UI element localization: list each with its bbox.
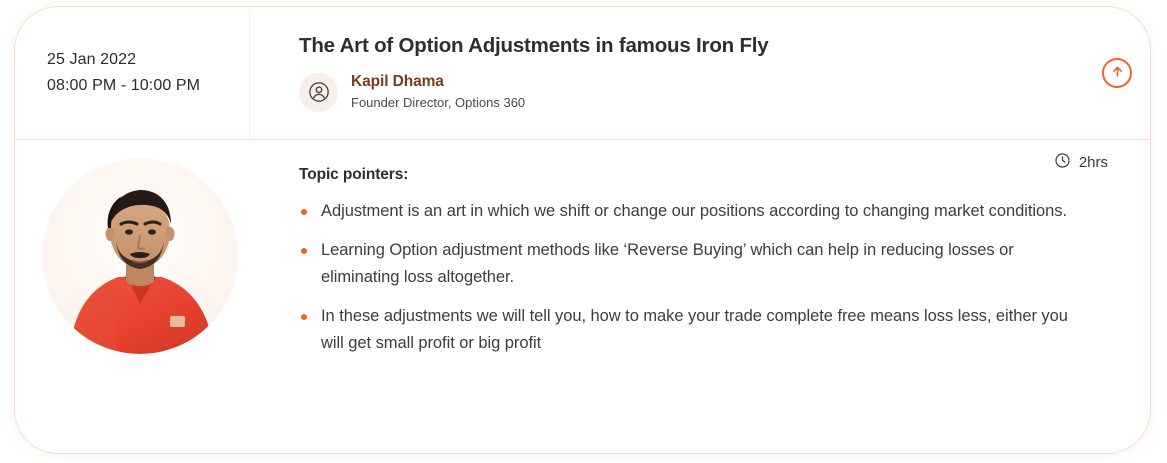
arrow-up-circle-icon	[1110, 64, 1125, 82]
speaker-role: Founder Director, Options 360	[351, 93, 525, 112]
list-item-text: Adjustment is an art in which we shift o…	[321, 202, 1067, 220]
duration-badge: 2hrs	[1054, 152, 1108, 173]
bullet-dot-icon	[301, 314, 307, 320]
topic-pointers-heading: Topic pointers:	[299, 166, 1090, 184]
session-body: 2hrs Topic pointers: Adjustment is an ar…	[15, 140, 1150, 454]
speaker-row: Kapil Dhama Founder Director, Options 36…	[299, 72, 1126, 112]
bullet-dot-icon	[301, 248, 307, 254]
session-card: 25 Jan 2022 08:00 PM - 10:00 PM The Art …	[14, 6, 1151, 454]
session-date: 25 Jan 2022	[47, 47, 249, 73]
date-time-panel: 25 Jan 2022 08:00 PM - 10:00 PM	[15, 7, 250, 139]
list-item: Adjustment is an art in which we shift o…	[299, 198, 1090, 225]
list-item: Learning Option adjustment methods like …	[299, 237, 1090, 291]
collapse-toggle-button[interactable]	[1102, 58, 1132, 88]
session-header: 25 Jan 2022 08:00 PM - 10:00 PM The Art …	[15, 7, 1150, 140]
topic-pointers-list: Adjustment is an art in which we shift o…	[299, 198, 1090, 357]
session-time-range: 08:00 PM - 10:00 PM	[47, 73, 249, 99]
speaker-name: Kapil Dhama	[351, 72, 525, 91]
bullet-dot-icon	[301, 209, 307, 215]
list-item-text: Learning Option adjustment methods like …	[321, 241, 1014, 286]
list-item-text: In these adjustments we will tell you, h…	[321, 307, 1068, 352]
list-item: In these adjustments we will tell you, h…	[299, 303, 1090, 357]
session-content: 2hrs Topic pointers: Adjustment is an ar…	[264, 140, 1150, 454]
header-main: The Art of Option Adjustments in famous …	[250, 7, 1150, 139]
speaker-photo	[42, 158, 238, 354]
speaker-text: Kapil Dhama Founder Director, Options 36…	[351, 72, 525, 112]
clock-icon	[1054, 152, 1071, 173]
user-circle-icon	[299, 73, 338, 112]
session-title: The Art of Option Adjustments in famous …	[299, 34, 1126, 59]
duration-text: 2hrs	[1079, 154, 1108, 171]
speaker-photo-column	[15, 140, 264, 454]
